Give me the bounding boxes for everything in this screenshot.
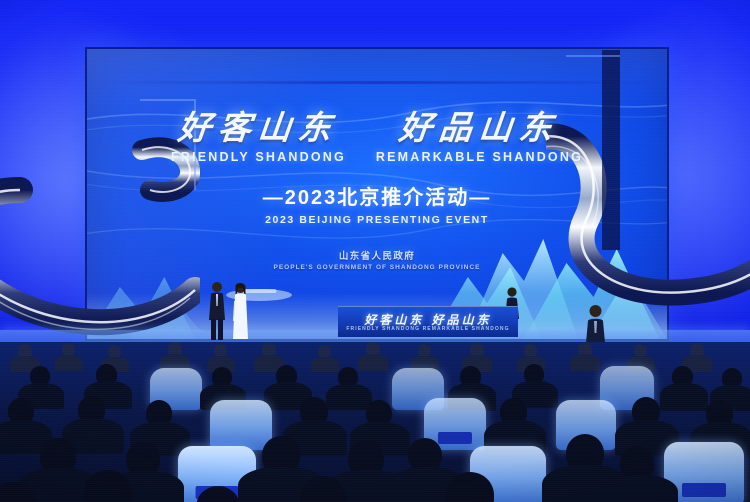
- headline-left-cn: 好客山东: [177, 111, 341, 146]
- podium-banner-en: FRIENDLY SHANDONG REMARKABLE SHANDONG: [338, 326, 518, 332]
- stage-person-host-male: [207, 280, 227, 340]
- event-stage-photo: 好客山东 FRIENDLY SHANDONG 好品山东 REMARKABLE S…: [0, 0, 750, 502]
- headline-left-en: FRIENDLY SHANDONG: [171, 150, 346, 164]
- audience-shoulders: [358, 354, 388, 371]
- stage-person-host-female: [231, 281, 250, 341]
- headline-right-group: 好品山东 REMARKABLE SHANDONG: [376, 111, 583, 164]
- event-subtitle-cn: —2023北京推介活动—: [87, 181, 667, 210]
- audience-shoulders: [660, 383, 708, 411]
- headline-left-group: 好客山东 FRIENDLY SHANDONG: [171, 111, 346, 164]
- headline-row: 好客山东 FRIENDLY SHANDONG 好品山东 REMARKABLE S…: [87, 111, 667, 164]
- chair-logo-tag: [682, 483, 726, 497]
- audience-seating-area: [0, 342, 750, 502]
- stage-person-guest-right: [585, 303, 606, 343]
- audience-shoulders: [600, 475, 678, 502]
- event-subtitle-en: 2023 BEIJING PRESENTING EVENT: [87, 214, 667, 226]
- audience-chair: [210, 400, 272, 450]
- audience-shoulders: [311, 357, 339, 372]
- organizer-name-en: PEOPLE'S GOVERNMENT OF SHANDONG PROVINCE: [87, 264, 667, 271]
- headline-right-cn: 好品山东: [398, 111, 562, 146]
- podium-banner: 好客山东 好品山东 FRIENDLY SHANDONG REMARKABLE S…: [338, 306, 518, 337]
- headline-right-en: REMARKABLE SHANDONG: [376, 150, 583, 164]
- led-video-wall: 好客山东 FRIENDLY SHANDONG 好品山东 REMARKABLE S…: [85, 47, 669, 341]
- organizer-name-cn: 山东省人民政府: [87, 248, 667, 262]
- audience-shoulders: [326, 384, 372, 410]
- screen-text-block: 好客山东 FRIENDLY SHANDONG 好品山东 REMARKABLE S…: [87, 111, 667, 271]
- audience-shoulders: [55, 355, 83, 371]
- chair-logo-tag: [438, 432, 472, 443]
- audience-shoulders: [570, 354, 600, 371]
